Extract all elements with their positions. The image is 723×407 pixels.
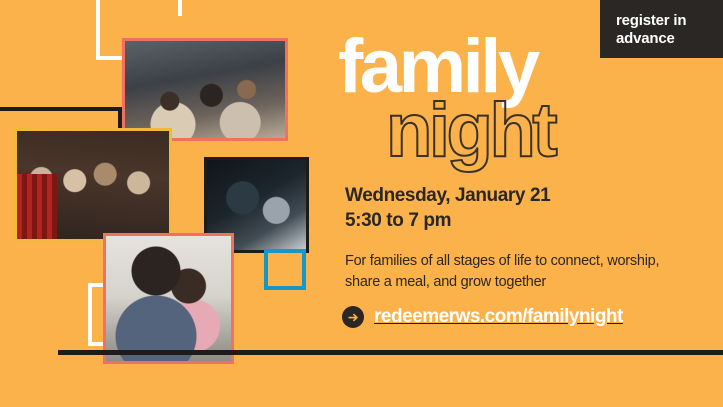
page-title: family night [338, 36, 554, 164]
registration-link[interactable]: redeemerws.com/familynight [342, 306, 623, 328]
photo-dinner-conversation [122, 38, 288, 141]
arrow-right-circle-icon [342, 306, 364, 328]
photo-group-portrait-image [17, 131, 169, 239]
photo-father-and-child [103, 233, 234, 364]
photo-group-portrait-detail [17, 174, 57, 239]
event-details: Wednesday, January 21 5:30 to 7 pm For f… [345, 183, 695, 292]
photo-dinner-conversation-image [125, 41, 285, 138]
photo-group-portrait [14, 128, 172, 242]
bracket-top-left-tick [178, 0, 182, 16]
event-description: For families of all stages of life to co… [345, 251, 675, 292]
register-in-advance-badge[interactable]: register in advance [600, 0, 723, 58]
horizontal-rule [58, 350, 723, 355]
registration-url: redeemerws.com/familynight [374, 306, 623, 328]
family-night-poster: register in advance family night Wednesd… [0, 0, 723, 407]
square-outline-teal [264, 249, 306, 290]
register-in-advance-label: register in advance [616, 12, 708, 47]
headline-line-night: night [386, 98, 554, 163]
event-date: Wednesday, January 21 [345, 183, 695, 208]
event-time: 5:30 to 7 pm [345, 208, 695, 233]
photo-father-and-child-image [106, 236, 231, 361]
